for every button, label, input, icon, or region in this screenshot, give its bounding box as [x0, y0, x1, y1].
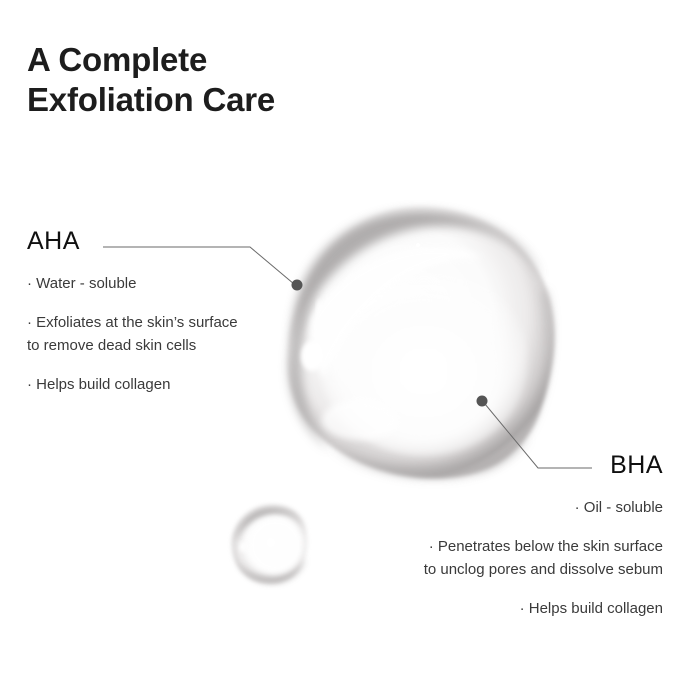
aha-callout-block: AHA · Water - soluble · Exfoliates at th… [27, 228, 297, 397]
small-serum-droplet [232, 505, 307, 583]
aha-bullet-list: · Water - soluble · Exfoliates at the sk… [27, 272, 297, 397]
large-serum-droplet [288, 207, 555, 478]
aha-heading: AHA [27, 228, 297, 256]
aha-bullet-2-line-1: · Exfoliates at the skin’s surface [27, 311, 297, 334]
list-item: · Oil - soluble [333, 496, 663, 519]
bha-bullet-list: · Oil - soluble · Penetrates below the s… [333, 496, 663, 621]
page-title: A Complete Exfoliation Care [27, 40, 447, 121]
bha-heading: BHA [333, 452, 663, 480]
list-item: · Helps build collagen [27, 373, 297, 396]
infographic-page: A Complete Exfoliation Care [0, 0, 679, 679]
aha-bullet-2-line-2: to remove dead skin cells [27, 334, 297, 357]
list-item: · Water - soluble [27, 272, 297, 295]
bha-bullet-2-line-2: to unclog pores and dissolve sebum [333, 558, 663, 581]
bha-callout-block: BHA · Oil - soluble · Penetrates below t… [333, 452, 663, 621]
list-item: · Penetrates below the skin surface to u… [333, 535, 663, 582]
list-item: · Helps build collagen [333, 597, 663, 620]
page-title-line-1: A Complete [27, 40, 447, 80]
bha-bullet-2-line-1: · Penetrates below the skin surface [333, 535, 663, 558]
bha-bullet-3-line-1: · Helps build collagen [333, 597, 663, 620]
aha-bullet-1-line-1: · Water - soluble [27, 272, 297, 295]
aha-bullet-3-line-1: · Helps build collagen [27, 373, 297, 396]
page-title-line-2: Exfoliation Care [27, 80, 447, 120]
list-item: · Exfoliates at the skin’s surface to re… [27, 311, 297, 358]
bha-callout-dot [477, 396, 488, 407]
bha-bullet-1-line-1: · Oil - soluble [333, 496, 663, 519]
